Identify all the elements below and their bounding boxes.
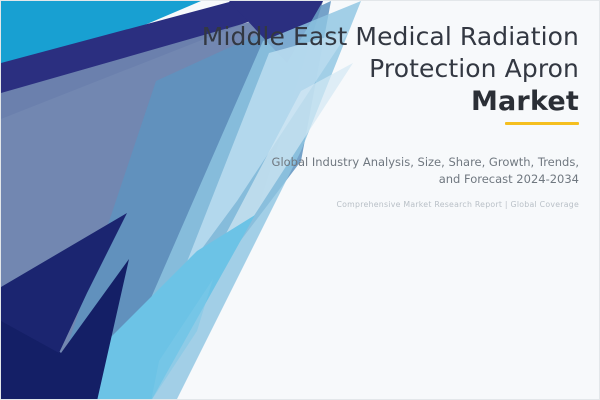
cover-text-layer: Middle East Medical Radiation Protection… xyxy=(1,1,600,400)
subtitle-block: Global Industry Analysis, Size, Share, G… xyxy=(249,154,579,189)
market-heading: Market xyxy=(471,87,579,117)
report-cover: Middle East Medical Radiation Protection… xyxy=(0,0,600,400)
page-title: Middle East Medical Radiation Protection… xyxy=(79,21,579,84)
title-block: Middle East Medical Radiation Protection… xyxy=(79,21,579,84)
market-heading-block: Market xyxy=(471,87,579,125)
tagline-block: Comprehensive Market Research Report | G… xyxy=(239,199,579,211)
market-accent-underline xyxy=(505,122,579,125)
report-subtitle: Global Industry Analysis, Size, Share, G… xyxy=(249,154,579,189)
report-tagline: Comprehensive Market Research Report | G… xyxy=(239,199,579,211)
